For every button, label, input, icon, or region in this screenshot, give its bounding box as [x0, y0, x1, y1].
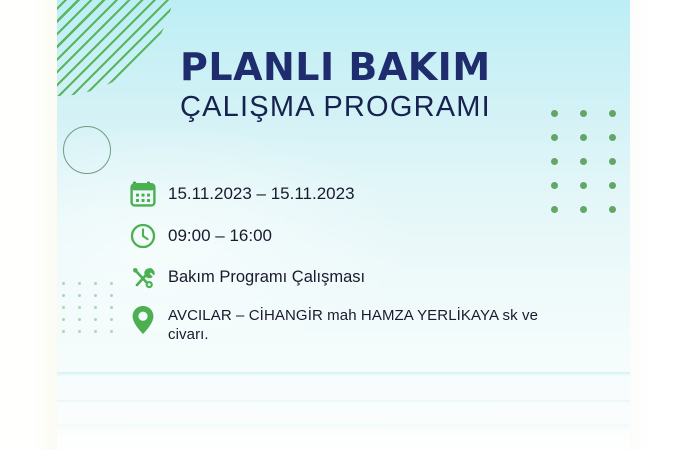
- dot: [62, 282, 65, 285]
- location-pin-icon: [130, 304, 168, 336]
- dot-grid-right-decoration: [551, 110, 638, 230]
- date-range-text: 15.11.2023 – 15.11.2023: [168, 178, 560, 205]
- detail-row-work-type: Bakım Programı Çalışması: [130, 262, 560, 294]
- dot: [580, 206, 587, 213]
- dot: [609, 158, 616, 165]
- dot: [609, 206, 616, 213]
- dot: [62, 318, 65, 321]
- dot: [609, 134, 616, 141]
- address-text: AVCILAR – CİHANGİR mah HAMZA YERLİKAYA s…: [168, 304, 560, 344]
- circle-outline-decoration: [63, 126, 111, 174]
- dot: [580, 134, 587, 141]
- dot: [62, 330, 65, 333]
- time-range-text: 09:00 – 16:00: [168, 220, 560, 247]
- clock-icon: [130, 220, 168, 252]
- page-subtitle: ÇALIŞMA PROGRAMI: [180, 92, 600, 124]
- detail-row-date: 15.11.2023 – 15.11.2023: [130, 178, 560, 210]
- dot: [78, 318, 81, 321]
- detail-row-address: AVCILAR – CİHANGİR mah HAMZA YERLİKAYA s…: [130, 304, 560, 344]
- dot: [551, 158, 558, 165]
- dot: [78, 282, 81, 285]
- poster-title-block: PLANLI BAKIM ÇALIŞMA PROGRAMI: [180, 48, 600, 124]
- page-title: PLANLI BAKIM: [180, 48, 600, 88]
- dot: [94, 282, 97, 285]
- right-white-margin: [630, 0, 690, 450]
- planned-maintenance-poster: PLANLI BAKIM ÇALIŞMA PROGRAMI: [0, 0, 690, 450]
- dot: [94, 306, 97, 309]
- left-white-margin: [0, 0, 57, 450]
- tools-icon: [130, 262, 168, 294]
- dot: [110, 318, 113, 321]
- dot: [62, 306, 65, 309]
- calendar-icon: [130, 178, 168, 210]
- dot: [94, 330, 97, 333]
- maintenance-details-list: 15.11.2023 – 15.11.2023 09:00 – 16:00: [130, 178, 560, 344]
- dot: [110, 282, 113, 285]
- dot: [94, 318, 97, 321]
- dot: [62, 294, 65, 297]
- dot: [110, 294, 113, 297]
- dot: [580, 182, 587, 189]
- detail-row-time: 09:00 – 16:00: [130, 220, 560, 252]
- dot: [94, 294, 97, 297]
- dot: [78, 306, 81, 309]
- dot: [110, 330, 113, 333]
- dot: [609, 182, 616, 189]
- dot: [78, 330, 81, 333]
- dot: [580, 158, 587, 165]
- dot: [78, 294, 81, 297]
- dot-grid-left-decoration: [62, 282, 126, 342]
- dot: [609, 110, 616, 117]
- dot: [110, 306, 113, 309]
- dot: [551, 134, 558, 141]
- work-type-text: Bakım Programı Çalışması: [168, 262, 560, 288]
